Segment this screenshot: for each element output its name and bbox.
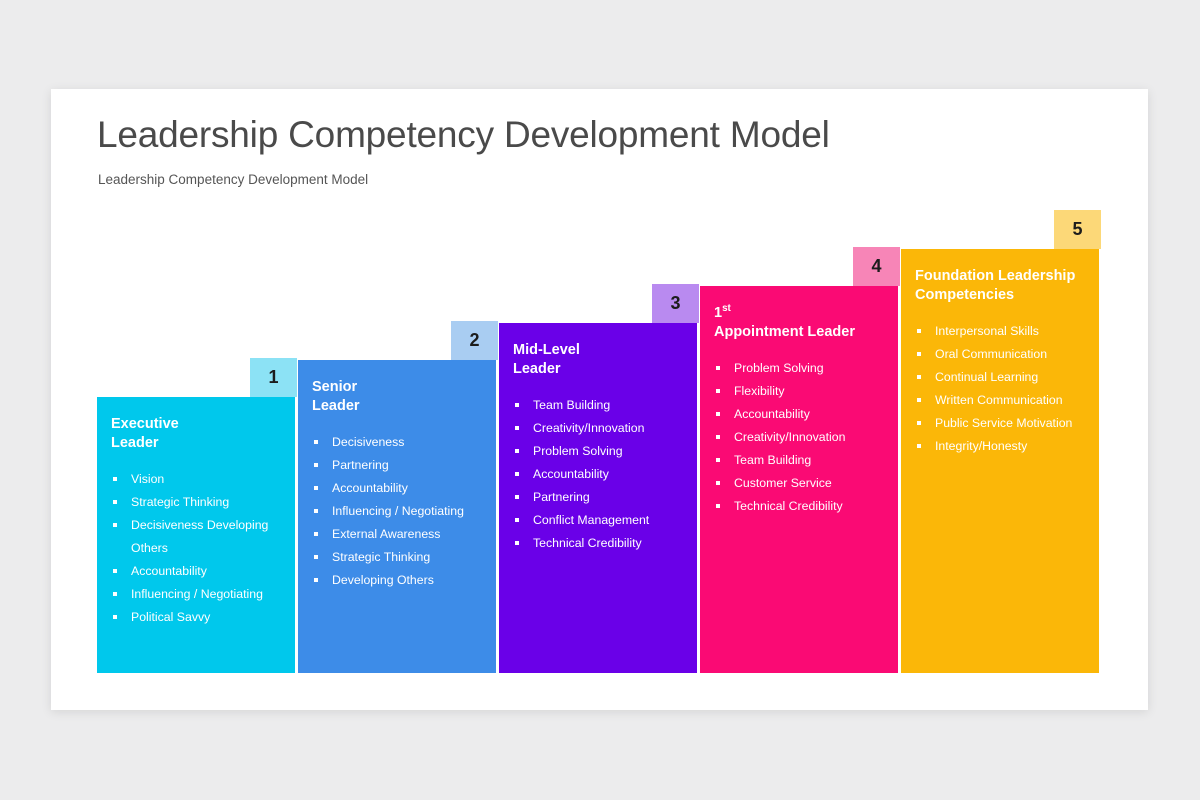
tier-heading-1: Executive Leader bbox=[111, 415, 281, 454]
square-bullet-icon bbox=[314, 486, 318, 490]
square-bullet-icon bbox=[716, 412, 720, 416]
square-bullet-icon bbox=[515, 449, 519, 453]
competency-label: Influencing / Negotiating bbox=[131, 587, 263, 601]
competency-item[interactable]: Strategic Thinking bbox=[312, 546, 482, 569]
competency-item[interactable]: Influencing / Negotiating bbox=[111, 583, 281, 606]
competency-list-3: Team BuildingCreativity/InnovationProble… bbox=[513, 394, 683, 556]
competency-label: Technical Credibility bbox=[533, 536, 642, 550]
competency-label: Decisiveness Developing Others bbox=[131, 518, 268, 555]
tier-column-5[interactable]: Foundation Leadership CompetenciesInterp… bbox=[901, 249, 1099, 673]
step-badge-5[interactable]: 5 bbox=[1054, 210, 1101, 249]
competency-label: Strategic Thinking bbox=[131, 495, 229, 509]
competency-item[interactable]: Decisiveness Developing Others bbox=[111, 514, 281, 560]
competency-label: Political Savvy bbox=[131, 610, 210, 624]
square-bullet-icon bbox=[917, 398, 921, 402]
tier-column-4[interactable]: 1stAppointment LeaderProblem SolvingFlex… bbox=[700, 286, 898, 673]
competency-label: Strategic Thinking bbox=[332, 550, 430, 564]
square-bullet-icon bbox=[917, 375, 921, 379]
step-badge-3[interactable]: 3 bbox=[652, 284, 699, 323]
tier-heading-4: 1stAppointment Leader bbox=[714, 304, 884, 343]
competency-label: Team Building bbox=[734, 453, 811, 467]
square-bullet-icon bbox=[113, 569, 117, 573]
square-bullet-icon bbox=[113, 523, 117, 527]
square-bullet-icon bbox=[314, 509, 318, 513]
step-badge-2[interactable]: 2 bbox=[451, 321, 498, 360]
competency-item[interactable]: Team Building bbox=[714, 449, 884, 472]
competency-item[interactable]: Team Building bbox=[513, 394, 683, 417]
competency-label: Accountability bbox=[533, 467, 609, 481]
competency-item[interactable]: Partnering bbox=[312, 454, 482, 477]
square-bullet-icon bbox=[917, 421, 921, 425]
square-bullet-icon bbox=[716, 366, 720, 370]
step-number-label: 5 bbox=[1072, 219, 1082, 240]
competency-item[interactable]: Strategic Thinking bbox=[111, 491, 281, 514]
competency-item[interactable]: Partnering bbox=[513, 486, 683, 509]
competency-label: Vision bbox=[131, 472, 164, 486]
square-bullet-icon bbox=[314, 532, 318, 536]
competency-label: Influencing / Negotiating bbox=[332, 504, 464, 518]
competency-list-5: Interpersonal SkillsOral CommunicationCo… bbox=[915, 320, 1085, 459]
competency-item[interactable]: Political Savvy bbox=[111, 606, 281, 629]
square-bullet-icon bbox=[314, 578, 318, 582]
competency-label: Technical Credibility bbox=[734, 499, 843, 513]
competency-item[interactable]: Flexibility bbox=[714, 380, 884, 403]
competency-item[interactable]: Continual Learning bbox=[915, 366, 1085, 389]
competency-label: External Awareness bbox=[332, 527, 440, 541]
competency-item[interactable]: Public Service Motivation bbox=[915, 412, 1085, 435]
competency-label: Partnering bbox=[533, 490, 590, 504]
competency-item[interactable]: Accountability bbox=[714, 403, 884, 426]
competency-item[interactable]: Accountability bbox=[111, 560, 281, 583]
competency-label: Creativity/Innovation bbox=[533, 421, 644, 435]
competency-label: Accountability bbox=[332, 481, 408, 495]
square-bullet-icon bbox=[515, 426, 519, 430]
square-bullet-icon bbox=[113, 500, 117, 504]
step-number-label: 4 bbox=[871, 256, 881, 277]
square-bullet-icon bbox=[917, 329, 921, 333]
square-bullet-icon bbox=[716, 435, 720, 439]
competency-label: Written Communication bbox=[935, 393, 1063, 407]
square-bullet-icon bbox=[515, 518, 519, 522]
step-number-label: 1 bbox=[268, 367, 278, 388]
square-bullet-icon bbox=[716, 389, 720, 393]
competency-item[interactable]: Oral Communication bbox=[915, 343, 1085, 366]
competency-item[interactable]: Accountability bbox=[513, 463, 683, 486]
square-bullet-icon bbox=[314, 555, 318, 559]
competency-item[interactable]: Integrity/Honesty bbox=[915, 435, 1085, 458]
square-bullet-icon bbox=[113, 477, 117, 481]
competency-item[interactable]: Developing Others bbox=[312, 569, 482, 592]
square-bullet-icon bbox=[716, 504, 720, 508]
competency-item[interactable]: Problem Solving bbox=[513, 440, 683, 463]
competency-list-1: VisionStrategic ThinkingDecisiveness Dev… bbox=[111, 468, 281, 630]
tier-heading-2: Senior Leader bbox=[312, 378, 482, 417]
competency-item[interactable]: Interpersonal Skills bbox=[915, 320, 1085, 343]
ordinal-suffix: st bbox=[722, 303, 731, 314]
staircase-chart: Executive LeaderVisionStrategic Thinking… bbox=[51, 89, 1148, 710]
competency-item[interactable]: Decisiveness bbox=[312, 431, 482, 454]
square-bullet-icon bbox=[917, 352, 921, 356]
competency-item[interactable]: Written Communication bbox=[915, 389, 1085, 412]
competency-item[interactable]: Customer Service bbox=[714, 472, 884, 495]
square-bullet-icon bbox=[314, 463, 318, 467]
competency-label: Integrity/Honesty bbox=[935, 439, 1027, 453]
square-bullet-icon bbox=[515, 472, 519, 476]
square-bullet-icon bbox=[716, 458, 720, 462]
competency-list-2: DecisivenessPartneringAccountabilityInfl… bbox=[312, 431, 482, 593]
competency-label: Developing Others bbox=[332, 573, 434, 587]
competency-item[interactable]: Conflict Management bbox=[513, 509, 683, 532]
competency-label: Flexibility bbox=[734, 384, 785, 398]
competency-item[interactable]: Vision bbox=[111, 468, 281, 491]
competency-label: Interpersonal Skills bbox=[935, 324, 1039, 338]
step-number-label: 3 bbox=[670, 293, 680, 314]
step-badge-1[interactable]: 1 bbox=[250, 358, 297, 397]
step-number-label: 2 bbox=[469, 330, 479, 351]
tier-column-3[interactable]: Mid-Level LeaderTeam BuildingCreativity/… bbox=[499, 323, 697, 673]
square-bullet-icon bbox=[515, 403, 519, 407]
competency-list-4: Problem SolvingFlexibilityAccountability… bbox=[714, 357, 884, 519]
square-bullet-icon bbox=[515, 541, 519, 545]
tier-heading-5: Foundation Leadership Competencies bbox=[915, 267, 1085, 306]
competency-label: Partnering bbox=[332, 458, 389, 472]
competency-label: Customer Service bbox=[734, 476, 832, 490]
square-bullet-icon bbox=[917, 444, 921, 448]
tier-column-1[interactable]: Executive LeaderVisionStrategic Thinking… bbox=[97, 397, 295, 673]
competency-label: Continual Learning bbox=[935, 370, 1038, 384]
square-bullet-icon bbox=[515, 495, 519, 499]
competency-label: Oral Communication bbox=[935, 347, 1047, 361]
competency-item[interactable]: Technical Credibility bbox=[513, 532, 683, 555]
competency-label: Problem Solving bbox=[734, 361, 824, 375]
competency-item[interactable]: Influencing / Negotiating bbox=[312, 500, 482, 523]
tier-heading-3: Mid-Level Leader bbox=[513, 341, 683, 380]
competency-item[interactable]: External Awareness bbox=[312, 523, 482, 546]
competency-label: Team Building bbox=[533, 398, 610, 412]
competency-label: Decisiveness bbox=[332, 435, 404, 449]
square-bullet-icon bbox=[314, 440, 318, 444]
competency-item[interactable]: Creativity/Innovation bbox=[714, 426, 884, 449]
slide-card: Leadership Competency Development Model … bbox=[51, 89, 1148, 710]
square-bullet-icon bbox=[113, 615, 117, 619]
square-bullet-icon bbox=[716, 481, 720, 485]
competency-label: Accountability bbox=[131, 564, 207, 578]
competency-label: Conflict Management bbox=[533, 513, 649, 527]
tier-column-2[interactable]: Senior LeaderDecisivenessPartneringAccou… bbox=[298, 360, 496, 673]
competency-item[interactable]: Problem Solving bbox=[714, 357, 884, 380]
competency-label: Problem Solving bbox=[533, 444, 623, 458]
competency-item[interactable]: Creativity/Innovation bbox=[513, 417, 683, 440]
step-badge-4[interactable]: 4 bbox=[853, 247, 900, 286]
competency-item[interactable]: Technical Credibility bbox=[714, 495, 884, 518]
square-bullet-icon bbox=[113, 592, 117, 596]
competency-label: Creativity/Innovation bbox=[734, 430, 845, 444]
competency-label: Public Service Motivation bbox=[935, 416, 1072, 430]
competency-label: Accountability bbox=[734, 407, 810, 421]
competency-item[interactable]: Accountability bbox=[312, 477, 482, 500]
